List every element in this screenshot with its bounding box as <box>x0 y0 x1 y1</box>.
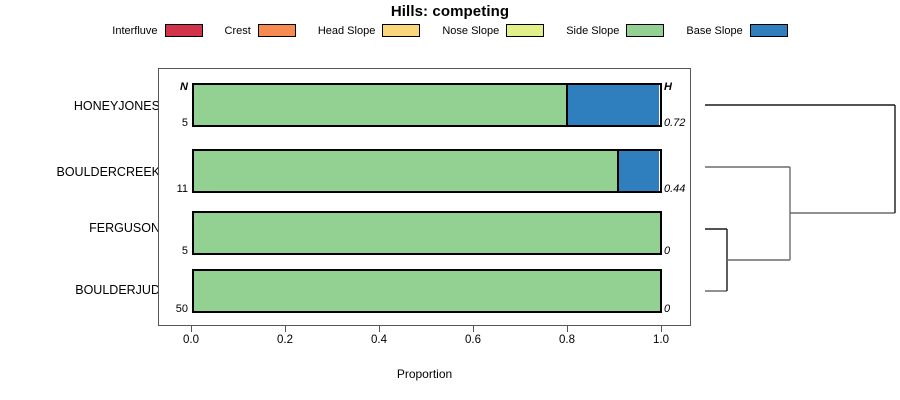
chart-title: Hills: competing <box>0 3 900 20</box>
stacked-bar[interactable] <box>192 149 662 193</box>
h-value: 0 <box>664 245 690 257</box>
legend-swatch-crest <box>258 24 296 37</box>
legend: Interfluve Crest Head Slope Nose Slope S… <box>0 24 900 37</box>
y-label-boulderjud: BOULDERJUD <box>0 283 160 297</box>
x-tick-mark <box>473 326 474 332</box>
n-column-header: N <box>162 81 188 93</box>
legend-label: Head Slope <box>318 25 376 37</box>
h-value: 0 <box>664 303 690 315</box>
bar-row[interactable]: 11 0.44 <box>192 149 662 193</box>
legend-item-crest: Crest <box>225 24 296 37</box>
x-tick-mark <box>191 326 192 332</box>
y-label-ferguson: FERGUSON <box>0 221 160 235</box>
dendrogram <box>700 68 900 326</box>
dendrogram-svg <box>700 68 900 326</box>
bar-segment-side-slope[interactable] <box>194 151 618 191</box>
legend-item-nose-slope: Nose Slope <box>442 24 544 37</box>
x-tick-mark <box>285 326 286 332</box>
bar-segment-side-slope[interactable] <box>194 271 660 311</box>
x-tick-label: 1.0 <box>641 334 681 346</box>
legend-swatch-interfluve <box>165 24 203 37</box>
legend-swatch-nose-slope <box>506 24 544 37</box>
h-column-header: H <box>664 81 690 93</box>
n-value: 5 <box>162 245 188 257</box>
n-value: 11 <box>162 183 188 195</box>
stacked-bar[interactable] <box>192 211 662 255</box>
legend-label: Interfluve <box>112 25 157 37</box>
x-axis-title: Proportion <box>158 367 691 381</box>
legend-swatch-base-slope <box>750 24 788 37</box>
legend-item-side-slope: Side Slope <box>566 24 664 37</box>
legend-label: Side Slope <box>566 25 619 37</box>
x-tick-mark <box>661 326 662 332</box>
legend-item-head-slope: Head Slope <box>318 24 421 37</box>
h-value: 0.72 <box>664 117 690 129</box>
x-tick-label: 0.6 <box>453 334 493 346</box>
bar-segment-base-slope[interactable] <box>566 85 659 125</box>
legend-label: Crest <box>225 25 251 37</box>
bar-segment-base-slope[interactable] <box>617 151 659 191</box>
x-tick-label: 0.2 <box>265 334 305 346</box>
legend-item-base-slope: Base Slope <box>686 24 787 37</box>
plot-panel: N H 5 0.72 11 0.44 5 0 50 0 <box>158 68 691 326</box>
bar-row[interactable]: N H 5 0.72 <box>192 83 662 127</box>
bar-row[interactable]: 50 0 <box>192 269 662 313</box>
legend-label: Nose Slope <box>442 25 499 37</box>
bar-segment-side-slope[interactable] <box>194 85 567 125</box>
n-value: 50 <box>162 303 188 315</box>
x-tick-label: 0.4 <box>359 334 399 346</box>
n-value: 5 <box>162 117 188 129</box>
y-label-honeyjones: HONEYJONES <box>0 99 160 113</box>
y-label-bouldercreek: BOULDERCREEK <box>0 165 160 179</box>
x-tick-label: 0.8 <box>547 334 587 346</box>
stacked-bar[interactable] <box>192 83 662 127</box>
x-tick-mark <box>567 326 568 332</box>
stacked-bar[interactable] <box>192 269 662 313</box>
bar-segment-side-slope[interactable] <box>194 213 660 253</box>
x-tick-label: 0.0 <box>171 334 211 346</box>
x-axis: 0.00.20.40.60.81.0 <box>158 326 691 366</box>
legend-label: Base Slope <box>686 25 742 37</box>
legend-swatch-head-slope <box>382 24 420 37</box>
bar-row[interactable]: 5 0 <box>192 211 662 255</box>
legend-swatch-side-slope <box>626 24 664 37</box>
legend-item-interfluve: Interfluve <box>112 24 202 37</box>
h-value: 0.44 <box>664 183 690 195</box>
x-tick-mark <box>379 326 380 332</box>
